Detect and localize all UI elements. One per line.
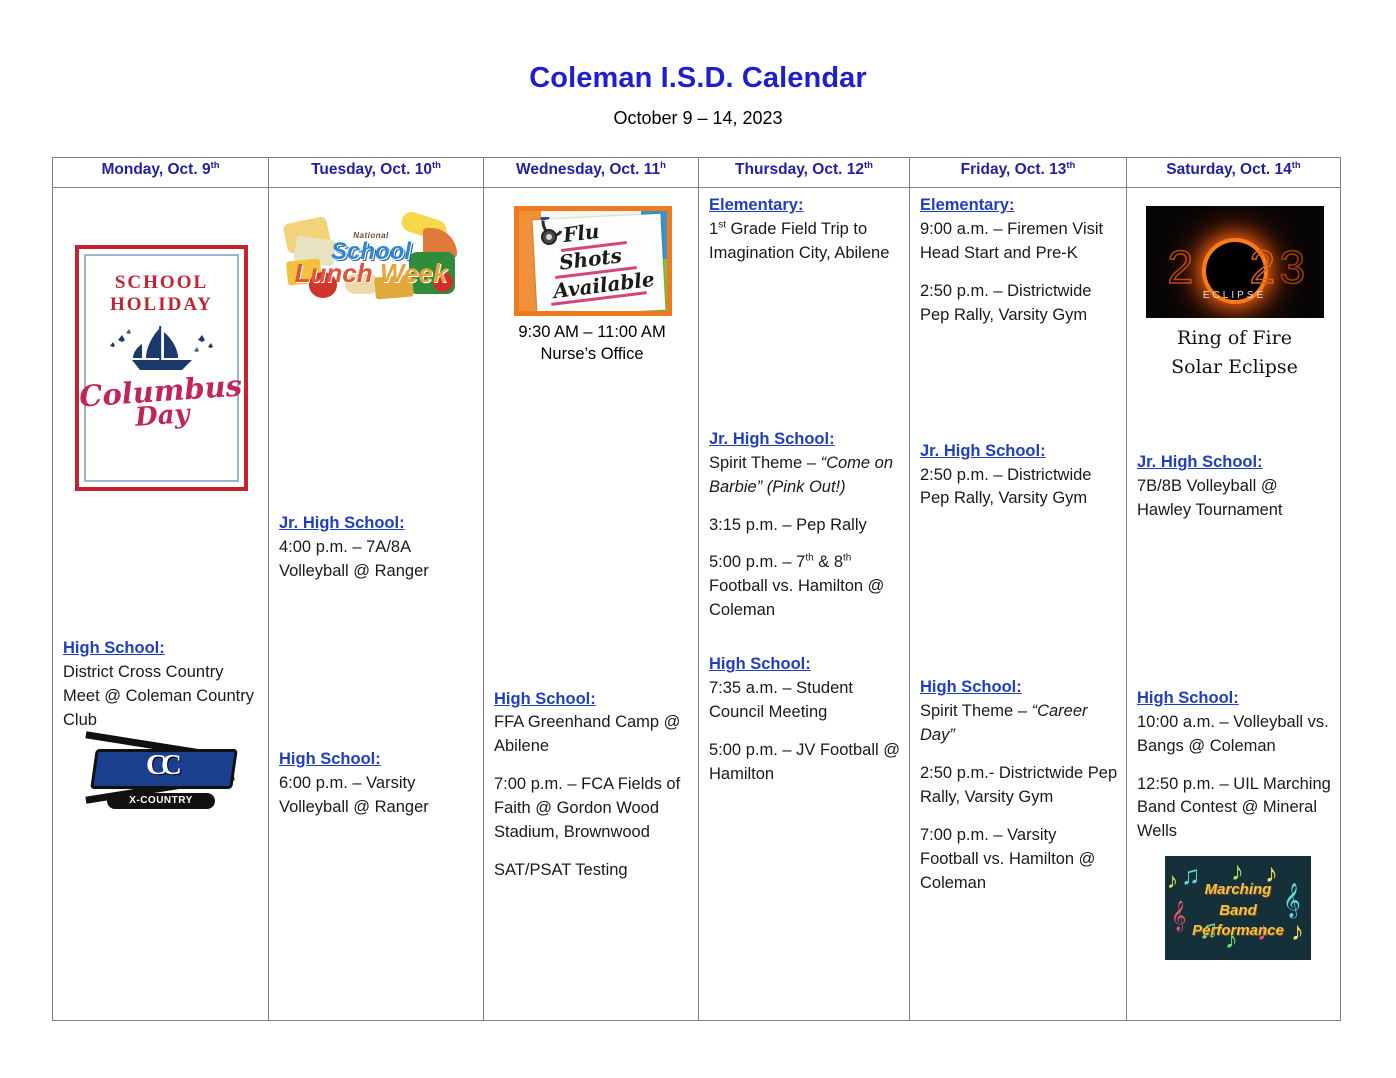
lunch-week-week: Week [380,258,447,288]
header-day-label: Friday, Oct. 13 [961,161,1067,178]
page-subtitle: October 9 – 14, 2023 [0,108,1396,129]
tuesday-jr-high-text: 4:00 p.m. – 7A/8A Volleyball @ Ranger [279,536,475,584]
wednesday-high-school-item1: FFA Greenhand Camp @ Abilene [494,711,690,759]
day-cell-thursday: Elementary: 1st Grade Field Trip to Imag… [699,188,910,1021]
thursday-high-school-item2: 5:00 p.m. – JV Football @ Hamilton [709,739,901,787]
saturday-jr-high-block: Jr. High School: 7B/8B Volleyball @ Hawl… [1137,451,1332,523]
friday-high-school-item2: 2:50 p.m.- Districtwide Pep Rally, Varsi… [920,762,1118,810]
school-lunch-week-icon: National School Lunch Week [283,212,459,302]
lunch-week-lunchweek: Lunch Week [283,260,459,286]
header-day-label: Thursday, Oct. 12 [735,161,864,178]
wednesday-high-school-item2: 7:00 p.m. – FCA Fields of Faith @ Gordon… [494,773,690,845]
flu-caption-time: 9:30 AM – 11:00 AM [494,321,690,343]
tuesday-jr-high-block: Jr. High School: 4:00 p.m. – 7A/8A Volle… [279,512,475,584]
thursday-jr-high-item3: 5:00 p.m. – 7th & 8th Football vs. Hamil… [709,551,901,623]
saturday-high-school-label: High School: [1137,687,1332,711]
day-cell-tuesday: National School Lunch Week Jr. High Scho… [269,188,484,1021]
elementary-text-rest: Grade Field Trip to Imagination City, Ab… [709,220,889,262]
thursday-high-school-block: High School: 7:35 a.m. – Student Council… [709,653,901,787]
column-header-saturday: Saturday, Oct. 14th [1127,158,1341,188]
friday-high-school-block: High School: Spirit Theme – “Career Day”… [920,676,1118,895]
friday-high-school-label: High School: [920,676,1118,700]
cross-country-art-sub: X-COUNTRY [107,793,215,809]
eclipse-art-digit-2b: 2 [1250,244,1276,290]
thursday-jr-high-label: Jr. High School: [709,428,901,452]
wednesday-high-school-item3: SAT/PSAT Testing [494,859,690,883]
columbus-art-line1: SCHOOL [115,272,208,294]
lunch-week-art-text: National School Lunch Week [283,232,459,286]
header-ordinal: th [432,160,441,171]
friday-elementary-item1: 9:00 a.m. – Firemen Visit Head Start and… [920,218,1118,266]
column-header-tuesday: Tuesday, Oct. 10th [269,158,484,188]
friday-high-school-item1: Spirit Theme – “Career Day” [920,700,1118,748]
wednesday-high-school-block: High School: FFA Greenhand Camp @ Abilen… [494,688,690,883]
thursday-high-school-label: High School: [709,653,901,677]
monday-high-school-label: High School: [63,637,260,661]
flu-shots-caption: 9:30 AM – 11:00 AM Nurse’s Office [494,321,690,366]
sailing-ship-icon [102,324,222,376]
columbus-art-line2: HOLIDAY [110,294,213,316]
saturday-jr-high-item1: 7B/8B Volleyball @ Hawley Tournament [1137,475,1332,523]
day-cell-friday: Elementary: 9:00 a.m. – Firemen Visit He… [910,188,1127,1021]
tuesday-jr-high-label: Jr. High School: [279,512,475,536]
saturday-high-school-item2: 12:50 p.m. – UIL Marching Band Contest @… [1137,773,1332,845]
jr-football-time: 5:00 p.m. – 7 [709,553,805,571]
marching-band-icon: 𝄞 ♫ ♫ ♪ ♪ 𝄞 ♪ ♪ ♪ ♪ Marching [1165,856,1311,960]
jr-football-rest: Football vs. Hamilton @ Coleman [709,577,884,619]
friday-high-school-item3: 7:00 p.m. – Varsity Football vs. Hamilto… [920,824,1118,896]
jr-football-sup1: th [805,553,813,564]
friday-spirit-theme-prefix: Spirit Theme – [920,702,1032,720]
calendar-page: Coleman I.S.D. Calendar October 9 – 14, … [0,0,1396,1078]
columbus-art-script: Columbus Day [78,372,244,433]
monday-high-school-block: High School: District Cross Country Meet… [63,637,260,733]
friday-elementary-block: Elementary: 9:00 a.m. – Firemen Visit He… [920,194,1118,328]
column-header-wednesday: Wednesday, Oct. 11h [484,158,699,188]
column-header-friday: Friday, Oct. 13th [910,158,1127,188]
spirit-theme-prefix: Spirit Theme – [709,454,821,472]
tuesday-high-school-label: High School: [279,748,475,772]
eclipse-art-digit-3: 3 [1280,244,1306,290]
header-ordinal: th [1292,160,1301,171]
saturday-high-school-item1: 10:00 a.m. – Volleyball vs. Bangs @ Cole… [1137,711,1332,759]
header-day-label: Saturday, Oct. 14 [1166,161,1291,178]
weekly-calendar-table: Monday, Oct. 9th Tuesday, Oct. 10th Wedn… [52,157,1341,1021]
band-art-line1: Marching [1165,880,1311,900]
flu-art-word1: Flu [562,219,601,247]
flu-caption-location: Nurse’s Office [494,343,690,365]
column-header-monday: Monday, Oct. 9th [53,158,269,188]
jr-football-amp: & 8 [814,553,843,571]
cross-country-icon: CC X-COUNTRY [85,735,237,807]
day-cell-saturday: 2 2 3 ECLIPSE Ring of Fire Solar Eclipse [1127,188,1341,1021]
day-cell-monday: SCHOOL HOLIDAY [53,188,269,1021]
thursday-jr-high-item1: Spirit Theme – “Come on Barbie” (Pink Ou… [709,452,901,500]
header-day-label: Wednesday, Oct. 11 [516,161,660,178]
eclipse-caption: Ring of Fire Solar Eclipse [1137,324,1332,381]
header-ordinal: th [211,160,220,171]
saturday-jr-high-label: Jr. High School: [1137,451,1332,475]
band-art-line3: Performance [1165,921,1311,941]
marching-band-art-text: Marching Band Performance [1165,880,1311,941]
saturday-high-school-block: High School: 10:00 a.m. – Volleyball vs.… [1137,687,1332,845]
thursday-jr-high-block: Jr. High School: Spirit Theme – “Come on… [709,428,901,623]
friday-jr-high-item1: 2:50 p.m. – Districtwide Pep Rally, Vars… [920,464,1118,512]
header-ordinal: th [864,160,873,171]
elementary-grade-number: 1 [709,220,718,238]
band-art-line2: Band [1165,901,1311,921]
thursday-jr-high-item2: 3:15 p.m. – Pep Rally [709,514,901,538]
friday-elementary-label: Elementary: [920,194,1118,218]
thursday-high-school-item1: 7:35 a.m. – Student Council Meeting [709,677,901,725]
page-title: Coleman I.S.D. Calendar [0,62,1396,95]
columbus-day-icon: SCHOOL HOLIDAY [75,245,248,491]
thursday-elementary-block: Elementary: 1st Grade Field Trip to Imag… [709,194,901,266]
day-cell-wednesday: Flu Shots Available 9:30 AM – 11:00 AM N… [484,188,699,1021]
friday-jr-high-block: Jr. High School: 2:50 p.m. – Districtwid… [920,440,1118,512]
table-header-row: Monday, Oct. 9th Tuesday, Oct. 10th Wedn… [53,158,1341,188]
header-day-label: Monday, Oct. 9 [101,161,210,178]
monday-high-school-text: District Cross Country Meet @ Coleman Co… [63,661,260,733]
header-ordinal: th [1066,160,1075,171]
solar-eclipse-icon: 2 2 3 ECLIPSE [1146,206,1324,318]
friday-jr-high-label: Jr. High School: [920,440,1118,464]
eclipse-art-digit-2: 2 [1168,244,1194,290]
column-header-thursday: Thursday, Oct. 12th [699,158,910,188]
eclipse-art-word: ECLIPSE [1146,290,1324,301]
wednesday-high-school-label: High School: [494,688,690,712]
eclipse-caption-line2: Solar Eclipse [1137,353,1332,382]
cross-country-art-cc: CC [111,747,211,783]
flu-shots-icon: Flu Shots Available [514,206,672,316]
header-ordinal: h [660,160,666,171]
thursday-elementary-label: Elementary: [709,194,901,218]
lunch-week-lunch: Lunch [295,258,373,288]
thursday-elementary-text: 1st Grade Field Trip to Imagination City… [709,218,901,266]
tuesday-high-school-block: High School: 6:00 p.m. – Varsity Volleyb… [279,748,475,820]
tuesday-high-school-text: 6:00 p.m. – Varsity Volleyball @ Ranger [279,772,475,820]
eclipse-caption-line1: Ring of Fire [1137,324,1332,353]
elementary-grade-ordinal: st [718,219,726,230]
friday-elementary-item2: 2:50 p.m. – Districtwide Pep Rally, Vars… [920,280,1118,328]
jr-football-sup2: th [843,553,851,564]
header-day-label: Tuesday, Oct. 10 [311,161,432,178]
